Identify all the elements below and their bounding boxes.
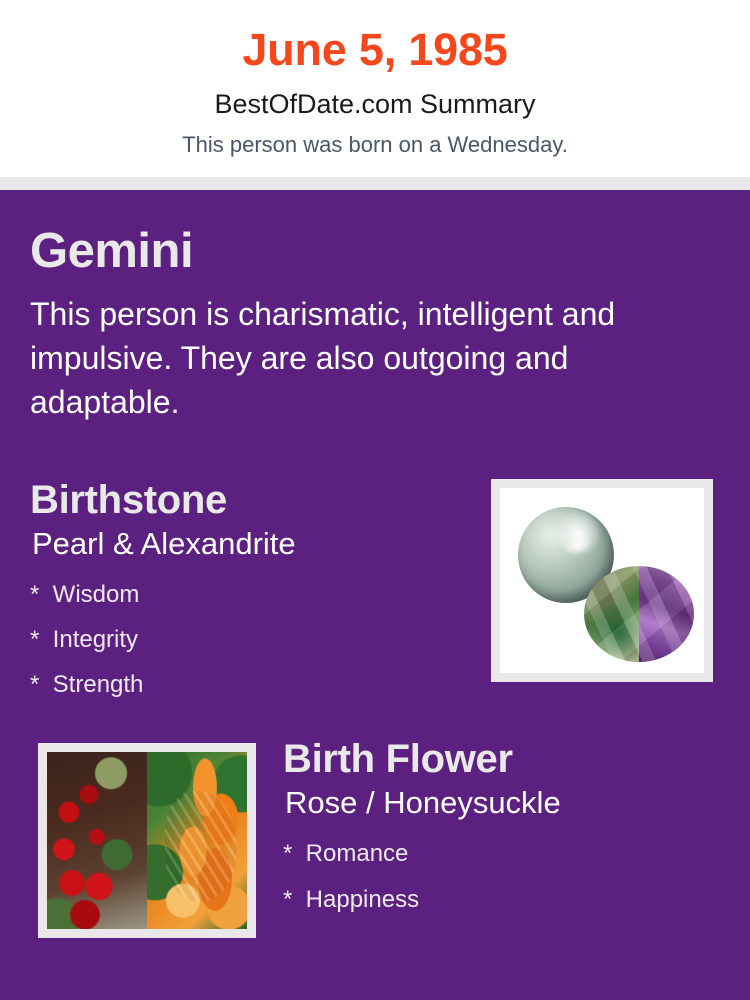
list-item: * Romance	[283, 831, 733, 877]
zodiac-sign-name: Gemini	[30, 222, 193, 280]
birthstone-heading: Birthstone	[30, 476, 470, 524]
birth-flower-section: Birth Flower Rose / Honeysuckle * Romanc…	[283, 735, 733, 923]
birth-flower-trait-list: * Romance * Happiness	[283, 831, 733, 923]
birthstone-section: Birthstone Pearl & Alexandrite * Wisdom …	[30, 476, 470, 707]
alexandrite-icon	[584, 566, 694, 662]
list-item: * Happiness	[283, 877, 733, 923]
list-item: * Integrity	[30, 617, 470, 662]
gem-facets-overlay	[584, 566, 694, 662]
list-item: * Wisdom	[30, 572, 470, 617]
birthstone-image	[500, 488, 704, 673]
roses-photo-half	[47, 752, 147, 929]
birth-flower-names: Rose / Honeysuckle	[283, 783, 733, 823]
zodiac-description: This person is charismatic, intelligent …	[30, 292, 698, 424]
list-item: * Strength	[30, 662, 470, 707]
birth-flower-image-frame	[38, 743, 256, 938]
birthstone-image-frame	[491, 479, 713, 682]
page-title: June 5, 1985	[0, 22, 750, 78]
birthstone-names: Pearl & Alexandrite	[30, 524, 470, 564]
birthday-summary-card: June 5, 1985 BestOfDate.com Summary This…	[0, 0, 750, 1000]
birthstone-trait-list: * Wisdom * Integrity * Strength	[30, 572, 470, 707]
card-header: June 5, 1985 BestOfDate.com Summary This…	[0, 0, 750, 177]
honeysuckle-tubes-texture	[165, 791, 237, 901]
birth-flower-image	[47, 752, 247, 929]
born-day-text: This person was born on a Wednesday.	[0, 130, 750, 160]
birth-flower-heading: Birth Flower	[283, 735, 733, 783]
honeysuckle-photo-half	[147, 752, 247, 929]
site-subtitle: BestOfDate.com Summary	[0, 87, 750, 121]
header-divider	[0, 177, 750, 190]
